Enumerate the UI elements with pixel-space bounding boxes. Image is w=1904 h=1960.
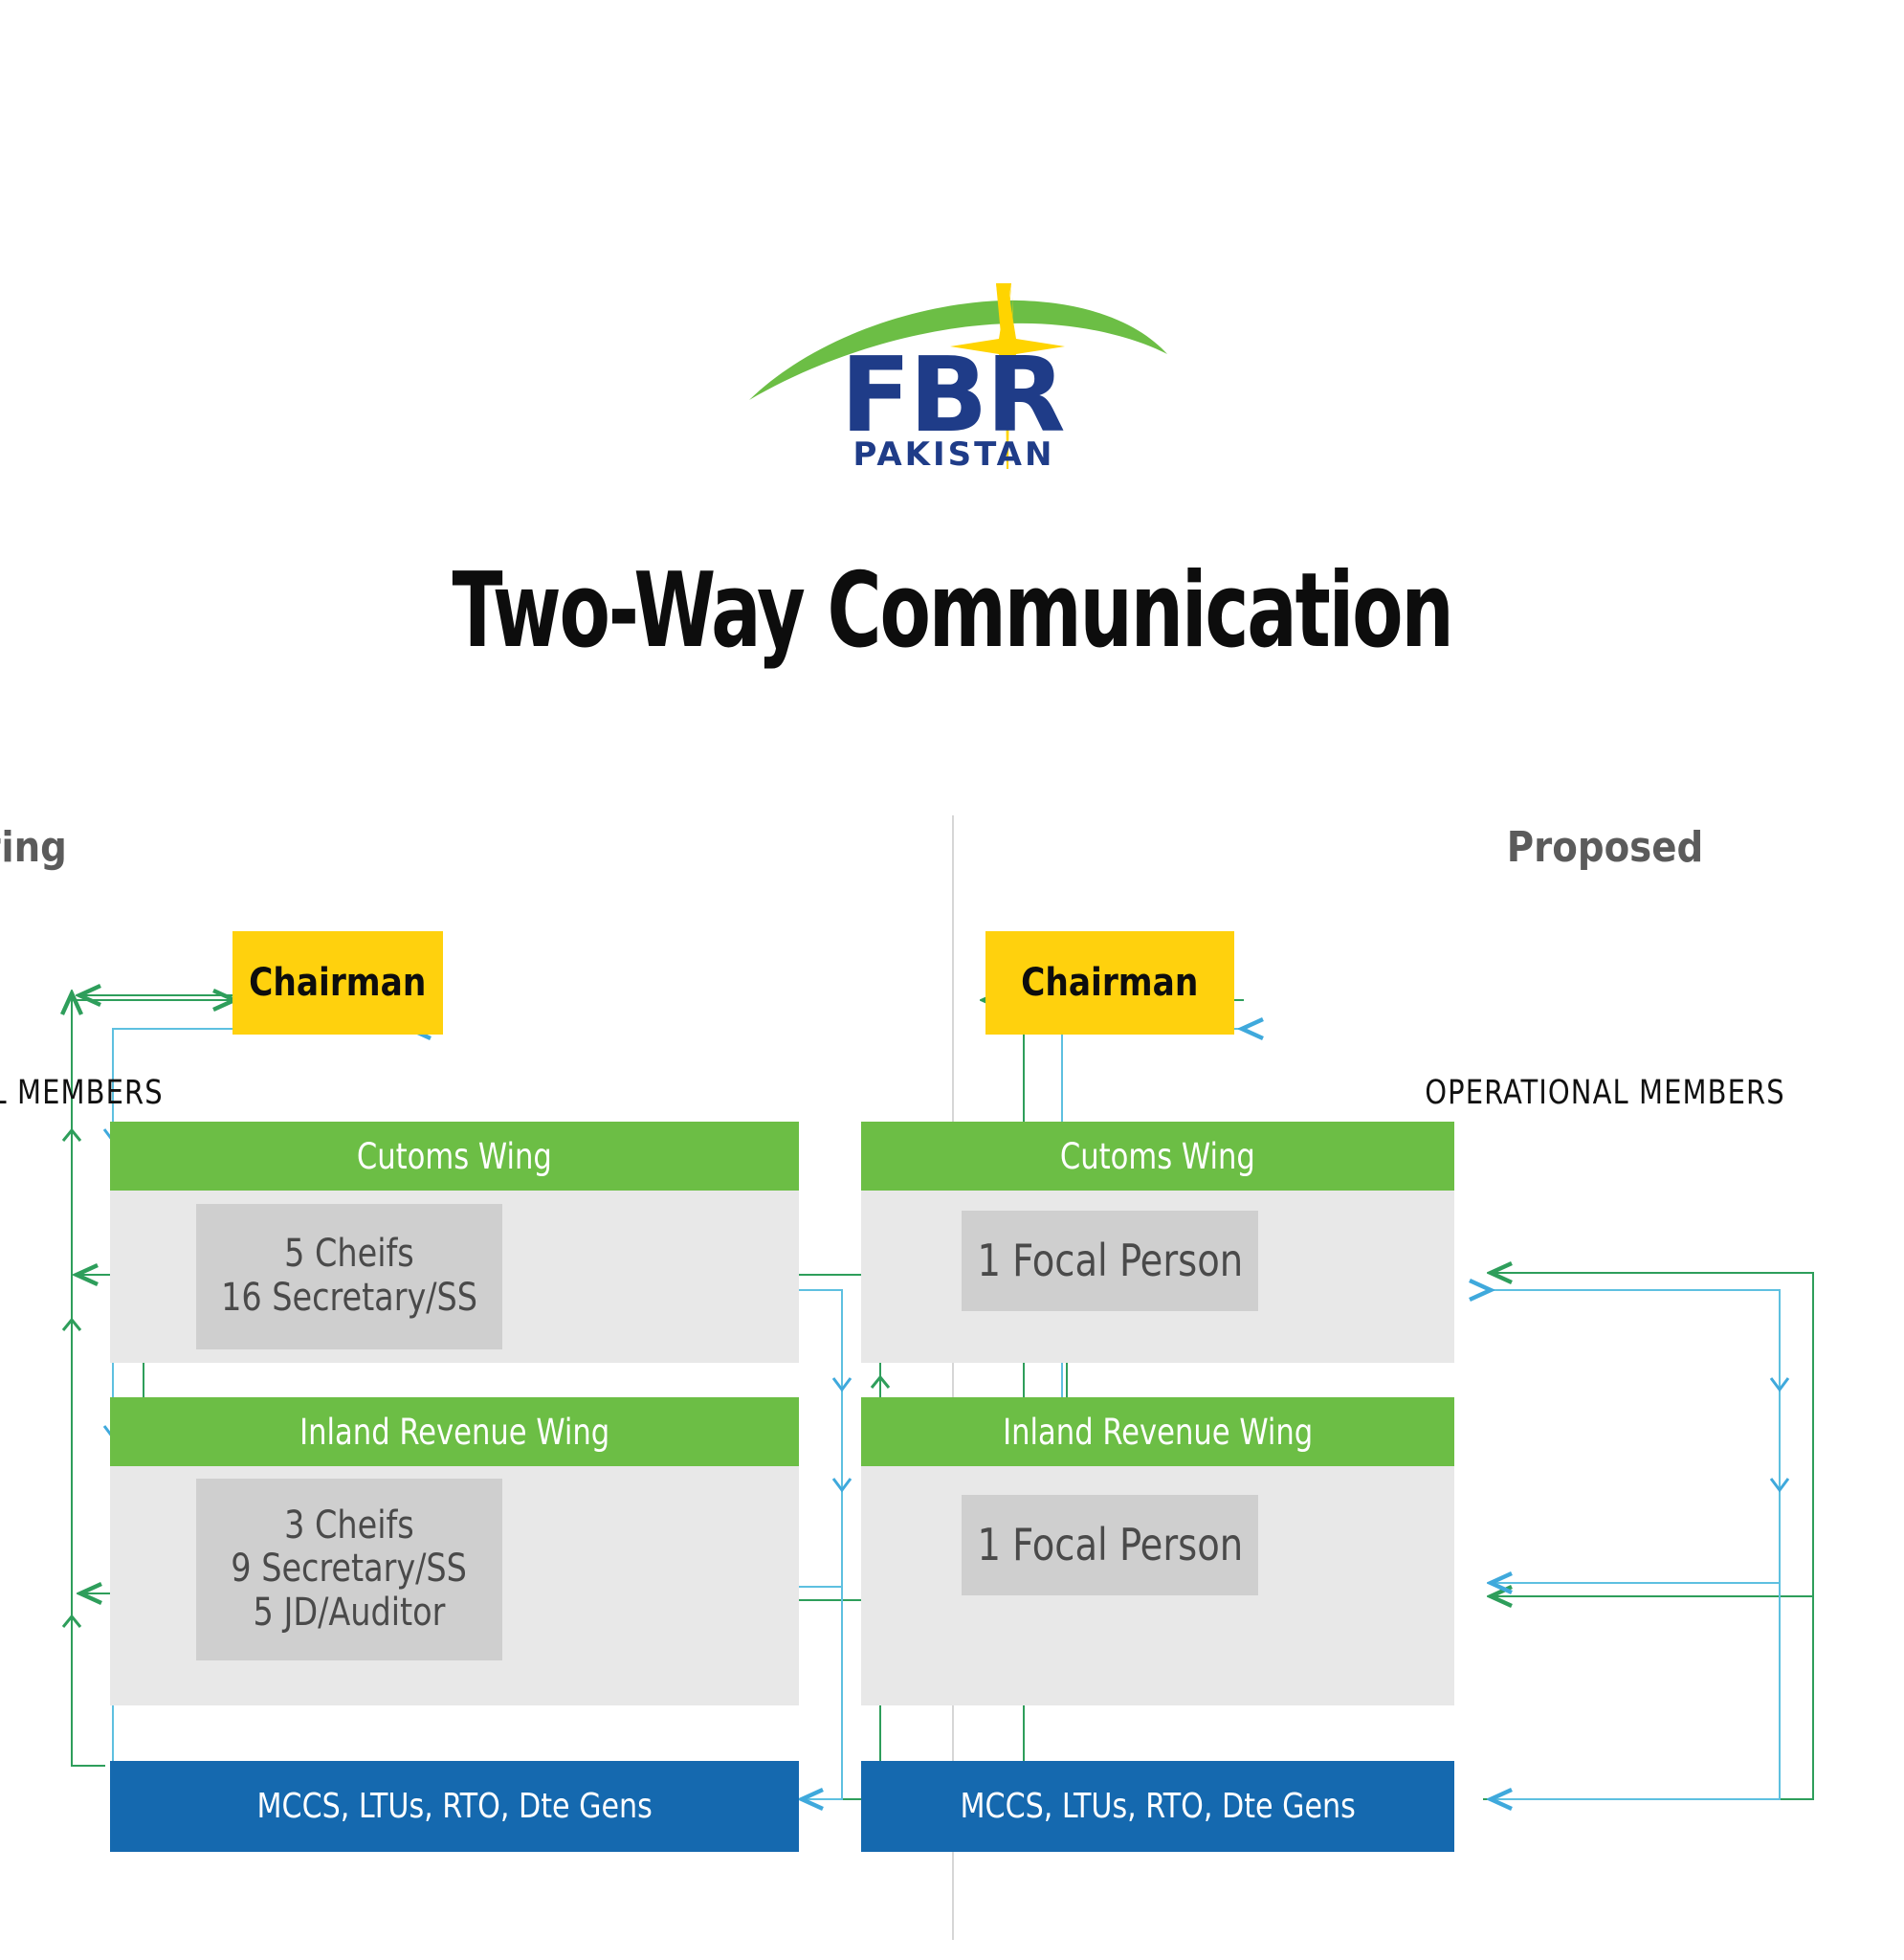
fbr-logo: FBR PAKISTAN bbox=[0, 278, 1904, 488]
column-header-proposed: Proposed bbox=[1186, 823, 1904, 872]
poster-canvas: FBR PAKISTAN Two-Way Communication bbox=[0, 0, 1904, 1960]
roles-box-customs-existing[interactable]: 5 Cheifs 16 Secretary/SS bbox=[196, 1204, 502, 1349]
pakistan-wordmark: PAKISTAN bbox=[853, 435, 1055, 474]
chairman-label: Chairman bbox=[249, 961, 426, 1005]
role-line: 9 Secretary/SS bbox=[232, 1548, 468, 1592]
role-line: 5 Cheifs bbox=[284, 1233, 414, 1277]
roles-box-customs-proposed[interactable]: 1 Focal Person bbox=[962, 1211, 1258, 1311]
page-title: Two-Way Communication bbox=[267, 560, 1638, 663]
role-line: 5 JD/Auditor bbox=[254, 1592, 446, 1636]
role-line: 1 Focal Person bbox=[977, 1520, 1243, 1570]
chairman-box-proposed[interactable]: Chairman bbox=[985, 931, 1234, 1035]
wing-name: Cutoms Wing bbox=[357, 1136, 552, 1177]
field-formations-label: MCCS, LTUs, RTO, Dte Gens bbox=[960, 1787, 1355, 1826]
column-header-existing: Existing bbox=[0, 823, 402, 872]
role-line: 1 Focal Person bbox=[977, 1236, 1243, 1285]
wing-bar-inland-existing[interactable]: Inland Revenue Wing bbox=[110, 1397, 799, 1466]
roles-box-inland-proposed[interactable]: 1 Focal Person bbox=[962, 1495, 1258, 1595]
wing-name: Inland Revenue Wing bbox=[299, 1412, 609, 1453]
chairman-box-existing[interactable]: Chairman bbox=[232, 931, 443, 1035]
wing-name: Cutoms Wing bbox=[1060, 1136, 1255, 1177]
wing-bar-customs-existing[interactable]: Cutoms Wing bbox=[110, 1122, 799, 1191]
chairman-label: Chairman bbox=[1021, 961, 1198, 1005]
wing-bar-customs-proposed[interactable]: Cutoms Wing bbox=[861, 1122, 1454, 1191]
field-formations-proposed[interactable]: MCCS, LTUs, RTO, Dte Gens bbox=[861, 1761, 1454, 1852]
field-formations-label: MCCS, LTUs, RTO, Dte Gens bbox=[256, 1787, 652, 1826]
operational-members-label-proposed: OPERATIONAL MEMBERS bbox=[1167, 1074, 1904, 1112]
role-line: 16 Secretary/SS bbox=[221, 1277, 477, 1321]
roles-box-inland-existing[interactable]: 3 Cheifs 9 Secretary/SS 5 JD/Auditor bbox=[196, 1479, 502, 1660]
fbr-logo-icon: FBR PAKISTAN bbox=[732, 278, 1172, 488]
operational-members-label-existing: OPERATIONAL MEMBERS bbox=[0, 1074, 421, 1112]
wing-bar-inland-proposed[interactable]: Inland Revenue Wing bbox=[861, 1397, 1454, 1466]
field-formations-existing[interactable]: MCCS, LTUs, RTO, Dte Gens bbox=[110, 1761, 799, 1852]
role-line: 3 Cheifs bbox=[284, 1504, 414, 1548]
wing-name: Inland Revenue Wing bbox=[1003, 1412, 1313, 1453]
